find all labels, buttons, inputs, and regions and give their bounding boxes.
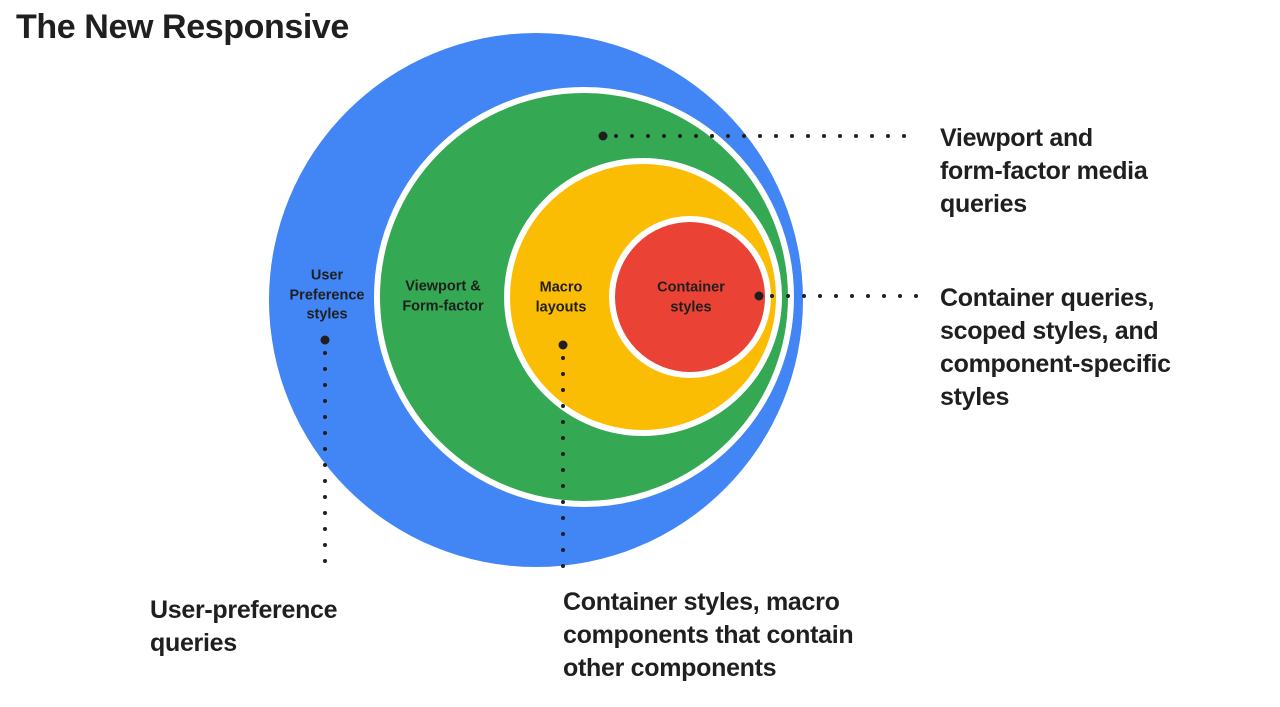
leader-dot <box>323 495 327 499</box>
leader-dot <box>323 479 327 483</box>
callout-container-macro-components: Container styles, macro components that … <box>563 586 853 685</box>
callout-viewport-media-queries: Viewport and form-factor media queries <box>940 122 1147 221</box>
leader-dot <box>774 134 778 138</box>
leader-dot <box>614 134 618 138</box>
leader-dot <box>323 383 327 387</box>
leader-dot <box>850 294 854 298</box>
callout-user-preference-queries: User-preference queries <box>150 594 337 660</box>
leader-dot <box>323 511 327 515</box>
leader-dot <box>902 134 906 138</box>
leader-dot <box>886 134 890 138</box>
leader-dot <box>882 294 886 298</box>
callout-container-queries: Container queries, scoped styles, and co… <box>940 282 1171 414</box>
leader-dot <box>323 463 327 467</box>
leader-dot <box>898 294 902 298</box>
leader-dot <box>806 134 810 138</box>
leader-dot <box>561 420 565 424</box>
leader-dot <box>770 294 774 298</box>
leader-dot <box>838 134 842 138</box>
leader-dot <box>646 134 650 138</box>
leader-dot <box>561 500 565 504</box>
leader-dot <box>786 294 790 298</box>
leader-dot <box>755 292 764 301</box>
leader-dot <box>758 134 762 138</box>
leader-dot <box>726 134 730 138</box>
leader-dot <box>323 367 327 371</box>
leader-dot <box>323 543 327 547</box>
leader-dot <box>866 294 870 298</box>
slide-canvas: The New Responsive User Preference style… <box>0 0 1280 707</box>
leader-dot <box>561 372 565 376</box>
leader-dot <box>790 134 794 138</box>
leader-dot <box>854 134 858 138</box>
leader-dot <box>323 399 327 403</box>
leader-dot <box>323 527 327 531</box>
leader-dot <box>822 134 826 138</box>
leader-dot <box>561 436 565 440</box>
leader-dot <box>742 134 746 138</box>
leader-dot <box>321 336 330 345</box>
ring-container-styles <box>612 219 768 375</box>
leader-dot <box>561 564 565 568</box>
leader-dot <box>561 468 565 472</box>
leader-dot <box>914 294 918 298</box>
leader-dot <box>599 132 608 141</box>
leader-dot <box>678 134 682 138</box>
leader-dot <box>561 516 565 520</box>
leader-dot <box>559 341 568 350</box>
leader-dot <box>834 294 838 298</box>
leader-dot <box>561 388 565 392</box>
leader-dot <box>323 351 327 355</box>
leader-dot <box>710 134 714 138</box>
leader-dot <box>561 356 565 360</box>
leader-dot <box>561 452 565 456</box>
leader-dot <box>561 404 565 408</box>
leader-dot <box>561 484 565 488</box>
leader-dot <box>802 294 806 298</box>
leader-dot <box>818 294 822 298</box>
leader-dot <box>323 447 327 451</box>
leader-dot <box>870 134 874 138</box>
leader-dot <box>561 532 565 536</box>
leader-dot <box>662 134 666 138</box>
leader-dot <box>323 431 327 435</box>
leader-dot <box>630 134 634 138</box>
leader-dot <box>694 134 698 138</box>
leader-dot <box>323 559 327 563</box>
leader-dot <box>323 415 327 419</box>
leader-dot <box>561 548 565 552</box>
